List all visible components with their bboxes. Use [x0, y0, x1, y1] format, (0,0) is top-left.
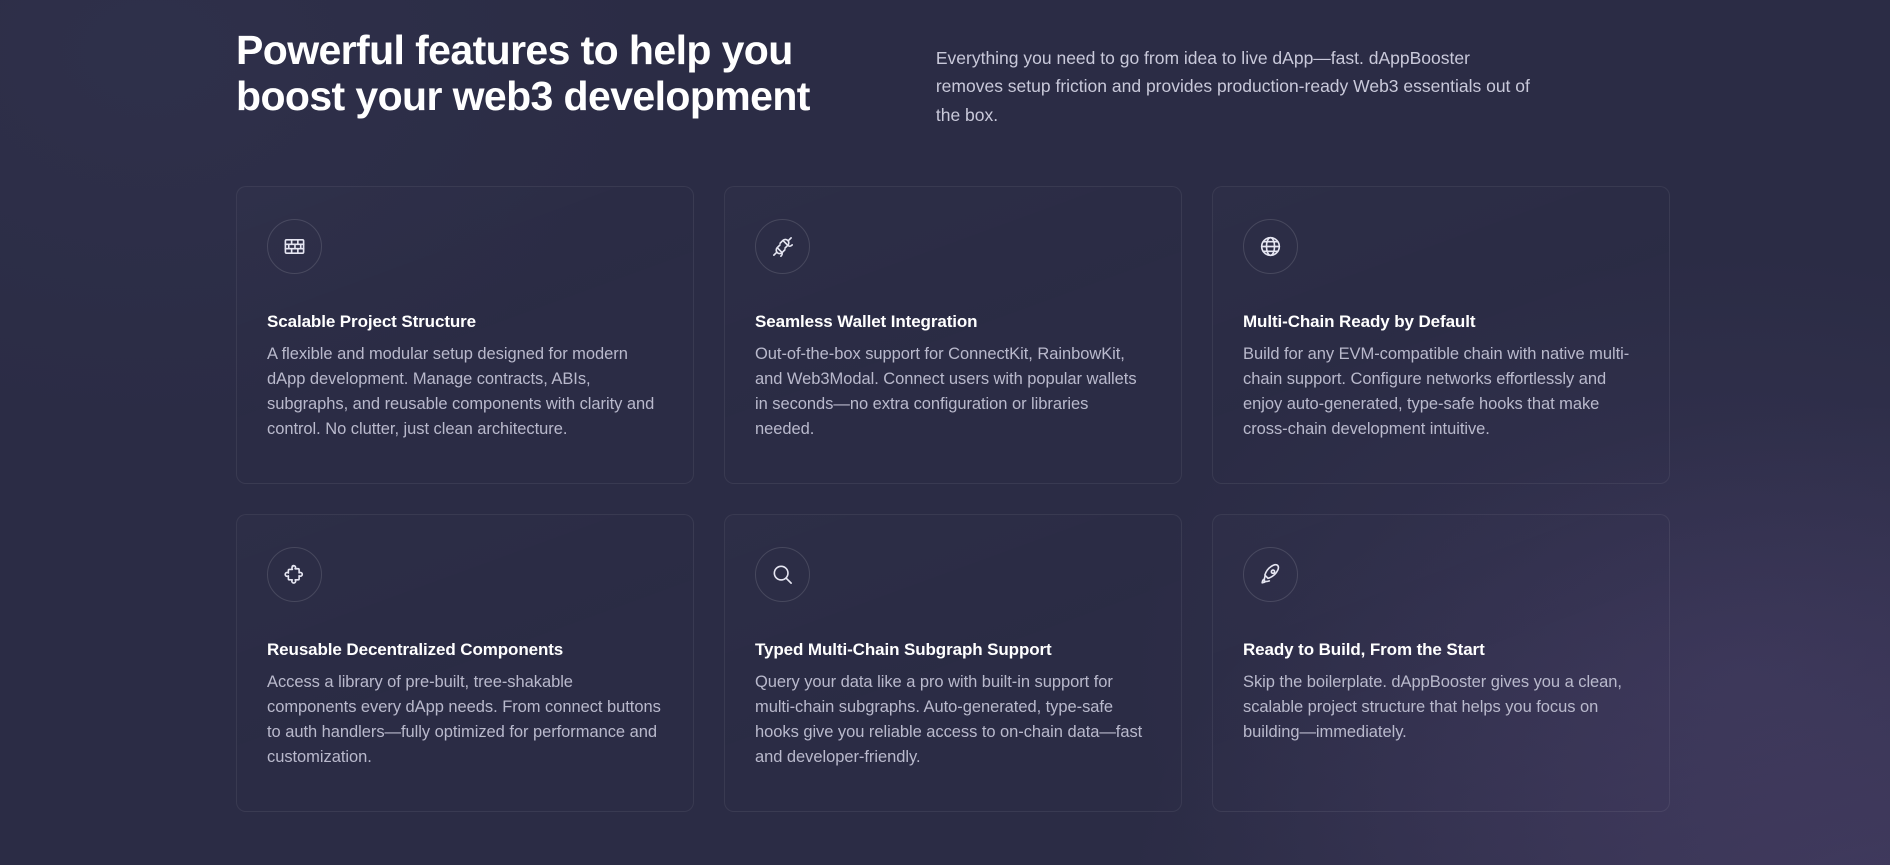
search-icon — [755, 547, 810, 602]
feature-card-title: Multi-Chain Ready by Default — [1243, 311, 1639, 333]
page-title: Powerful features to help you boost your… — [236, 28, 810, 120]
feature-card[interactable]: Scalable Project Structure A flexible an… — [236, 186, 694, 484]
feature-card-description: Access a library of pre-built, tree-shak… — [267, 670, 663, 770]
feature-card[interactable]: Ready to Build, From the Start Skip the … — [1212, 514, 1670, 812]
feature-card[interactable]: Reusable Decentralized Components Access… — [236, 514, 694, 812]
features-section: Powerful features to help you boost your… — [0, 0, 1890, 865]
feature-card-description: Out-of-the-box support for ConnectKit, R… — [755, 342, 1151, 442]
feature-card[interactable]: Seamless Wallet Integration Out-of-the-b… — [724, 186, 1182, 484]
feature-card[interactable]: Multi-Chain Ready by Default Build for a… — [1212, 186, 1670, 484]
section-intro-text: Everything you need to go from idea to l… — [936, 28, 1536, 129]
plug-connector-icon — [755, 219, 810, 274]
section-header: Powerful features to help you boost your… — [0, 0, 1890, 129]
feature-card[interactable]: Typed Multi-Chain Subgraph Support Query… — [724, 514, 1182, 812]
feature-card-description: Build for any EVM-compatible chain with … — [1243, 342, 1639, 442]
page-title-line-1: Powerful features to help you — [236, 28, 810, 74]
feature-card-description: Query your data like a pro with built-in… — [755, 670, 1151, 770]
feature-card-title: Seamless Wallet Integration — [755, 311, 1151, 333]
feature-card-grid: Scalable Project Structure A flexible an… — [0, 186, 1890, 812]
feature-card-title: Typed Multi-Chain Subgraph Support — [755, 639, 1151, 661]
feature-card-description: A flexible and modular setup designed fo… — [267, 342, 663, 442]
feature-card-title: Ready to Build, From the Start — [1243, 639, 1639, 661]
puzzle-piece-icon — [267, 547, 322, 602]
feature-card-description: Skip the boilerplate. dAppBooster gives … — [1243, 670, 1639, 745]
page-title-line-2: boost your web3 development — [236, 74, 810, 120]
globe-icon — [1243, 219, 1298, 274]
rocket-icon — [1243, 547, 1298, 602]
feature-card-title: Reusable Decentralized Components — [267, 639, 663, 661]
brick-wall-icon — [267, 219, 322, 274]
feature-card-title: Scalable Project Structure — [267, 311, 663, 333]
